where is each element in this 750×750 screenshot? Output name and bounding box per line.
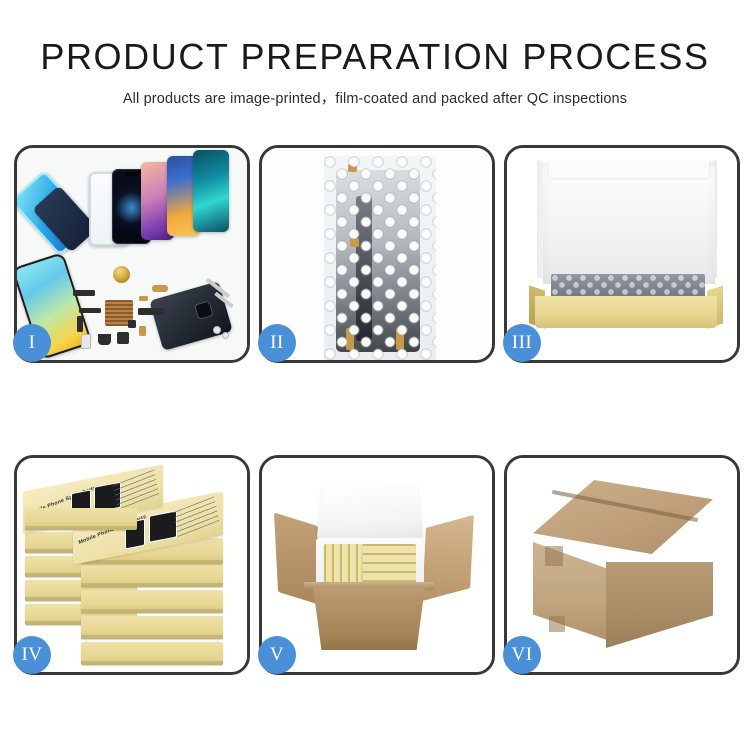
box-spec-lines-back bbox=[113, 469, 159, 510]
panel-step-4[interactable]: Mobile Phone Spare Parts Mobile Phone Sp… bbox=[14, 455, 250, 675]
carton-tape-lower bbox=[549, 616, 565, 632]
carton-front-wall bbox=[308, 586, 430, 650]
panel-step-2-image bbox=[262, 148, 492, 360]
panel-step-3[interactable]: III bbox=[504, 145, 740, 363]
packed-retail-boxes bbox=[324, 544, 416, 584]
process-step-grid: I II III bbox=[14, 145, 736, 675]
panel-step-6-image bbox=[507, 458, 737, 672]
panel-badge-3: III bbox=[503, 324, 541, 362]
bubble-wrap-pouch bbox=[324, 156, 436, 360]
panel-step-1-image bbox=[17, 148, 247, 360]
part-connector-bar bbox=[73, 290, 95, 296]
part-gold-contact bbox=[139, 326, 146, 336]
retail-box-stack: Mobile Phone Spare Parts Mobile Phone Sp… bbox=[21, 480, 247, 660]
part-ic-chip bbox=[128, 320, 136, 328]
part-flex-cable-left bbox=[79, 308, 101, 313]
page-subtitle: All products are image-printed，film-coat… bbox=[0, 87, 750, 108]
panel-badge-2: II bbox=[258, 324, 296, 362]
box-spec-lines-front bbox=[173, 496, 219, 537]
part-flex-cable-right bbox=[138, 308, 164, 315]
bubble-texture bbox=[324, 156, 436, 360]
part-speaker-module bbox=[113, 266, 130, 283]
part-gold-bracket bbox=[152, 285, 168, 292]
panel-step-5[interactable]: V bbox=[259, 455, 495, 675]
phone-teal-display bbox=[193, 150, 229, 232]
panel-badge-4: IV bbox=[13, 636, 51, 674]
header: PRODUCT PREPARATION PROCESS All products… bbox=[0, 0, 750, 108]
part-flex-cable-drop bbox=[77, 316, 83, 332]
panel-badge-6: VI bbox=[503, 636, 541, 674]
foam-sheet-backing bbox=[543, 166, 715, 284]
panel-badge-5: V bbox=[258, 636, 296, 674]
panel-step-6[interactable]: VI bbox=[504, 455, 740, 675]
part-sim-tray bbox=[81, 334, 91, 349]
page-title: PRODUCT PREPARATION PROCESS bbox=[0, 38, 750, 77]
panel-step-5-image bbox=[262, 458, 492, 672]
part-screw-small bbox=[222, 332, 229, 339]
foam-lid bbox=[317, 484, 424, 540]
panel-step-4-image: Mobile Phone Spare Parts Mobile Phone Sp… bbox=[17, 458, 247, 672]
panel-step-2[interactable]: II bbox=[259, 145, 495, 363]
carton-tape-upper bbox=[545, 546, 563, 566]
part-earpiece-mesh bbox=[98, 334, 111, 345]
part-screw bbox=[213, 326, 221, 334]
panel-step-3-image bbox=[507, 148, 737, 360]
kraft-box-front-wall bbox=[535, 296, 717, 328]
panel-badge-1: I bbox=[13, 324, 51, 362]
panel-step-1[interactable]: I bbox=[14, 145, 250, 363]
part-camera-module bbox=[117, 332, 129, 344]
part-gold-clip bbox=[139, 296, 148, 301]
